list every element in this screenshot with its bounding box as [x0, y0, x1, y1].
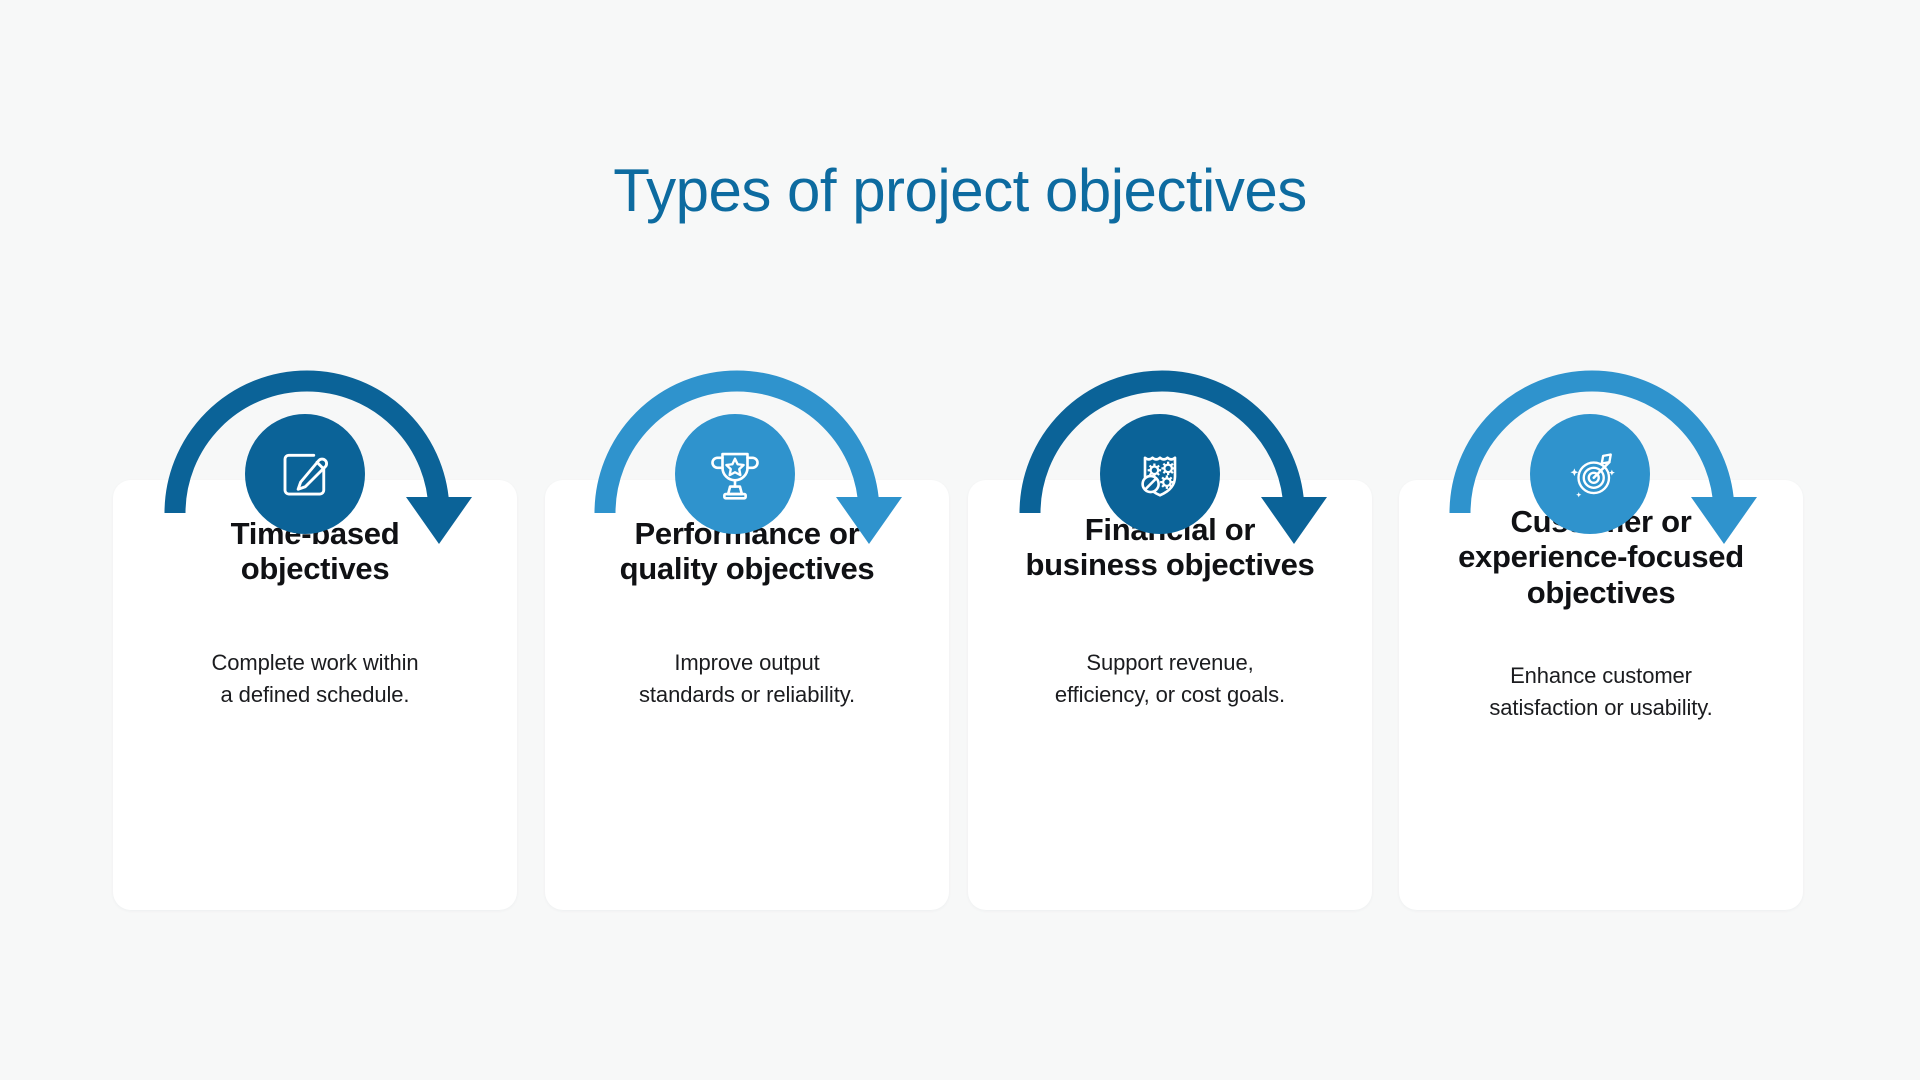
shield-gears-icon [1130, 444, 1190, 504]
icon-badge [1100, 414, 1220, 534]
objective-node [565, 348, 925, 548]
infographic-canvas: Types of project objectives Time-based o… [0, 0, 1920, 1080]
icon-badge [245, 414, 365, 534]
card-description: Enhance customer satisfaction or usabili… [1427, 660, 1775, 724]
trophy-star-icon [705, 444, 765, 504]
target-arrow-bullseye-icon [1560, 444, 1620, 504]
icon-badge [675, 414, 795, 534]
page-title: Types of project objectives [0, 158, 1920, 224]
card-description: Complete work within a defined schedule. [141, 647, 489, 711]
objective-node [1420, 348, 1780, 548]
edit-square-pencil-icon [275, 444, 335, 504]
card-description: Improve output standards or reliability. [573, 647, 921, 711]
card-description: Support revenue, efficiency, or cost goa… [996, 647, 1344, 711]
icon-badge [1530, 414, 1650, 534]
objective-node [990, 348, 1350, 548]
objective-node [135, 348, 495, 548]
